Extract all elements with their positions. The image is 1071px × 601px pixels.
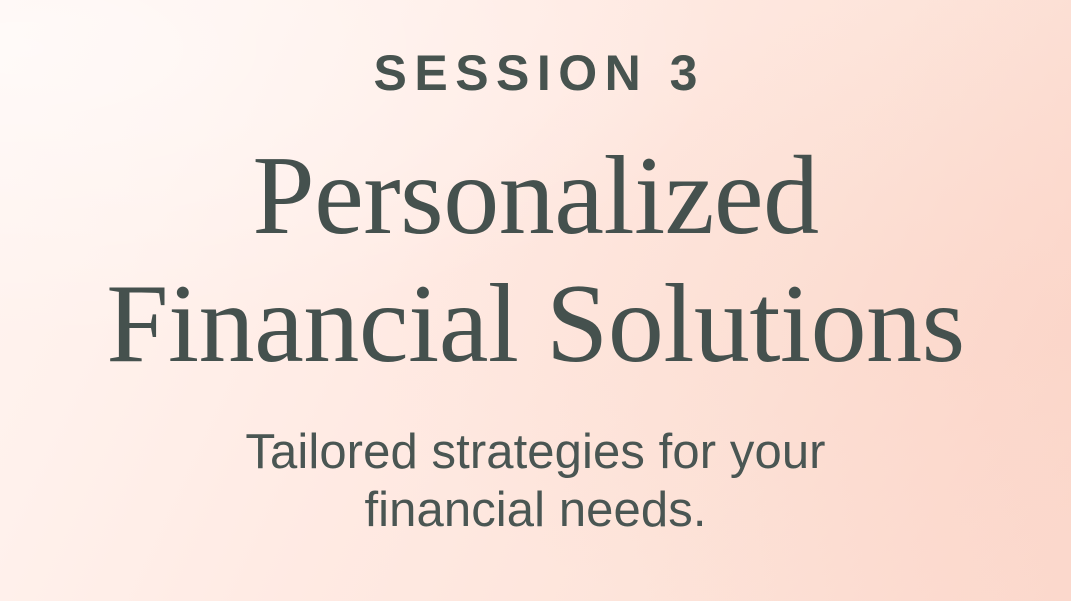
page-subtitle-line-1: Tailored strategies for your [0, 424, 1071, 482]
page-subtitle: Tailored strategies for your financial n… [0, 380, 1071, 540]
session-eyebrow: SESSION 3 [0, 0, 1071, 98]
page-subtitle-line-2: financial needs. [0, 482, 1071, 540]
slide-content: SESSION 3 Personalized Financial Solutio… [0, 0, 1071, 540]
page-title-line-2: Financial Solutions [0, 252, 1071, 380]
page-title: Personalized Financial Solutions [0, 98, 1071, 380]
title-slide: SESSION 3 Personalized Financial Solutio… [0, 0, 1071, 601]
page-title-line-1: Personalized [0, 140, 1071, 252]
